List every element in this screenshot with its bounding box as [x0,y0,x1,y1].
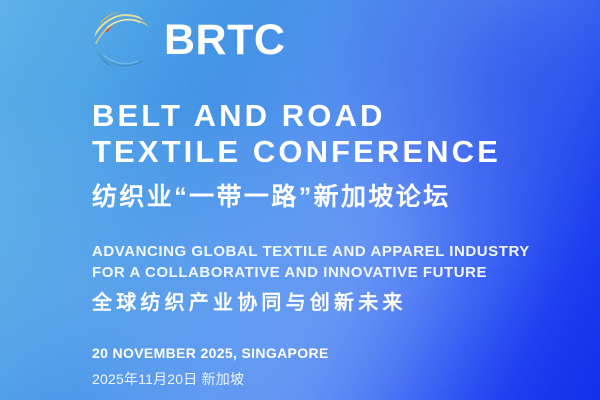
title-line-2: TEXTILE CONFERENCE [92,134,600,170]
event-date-english: 20 NOVEMBER 2025, SINGAPORE [92,343,600,363]
conference-poster: BRTC BELT AND ROAD TEXTILE CONFERENCE 纺织… [0,0,600,400]
tagline: ADVANCING GLOBAL TEXTILE AND APPAREL IND… [92,241,600,316]
poster-content: BRTC BELT AND ROAD TEXTILE CONFERENCE 纺织… [0,0,600,389]
logo-accent-red [106,24,122,33]
brand-name: BRTC [164,19,285,62]
brtc-circular-wave-logo-icon [92,9,154,71]
event-date-venue: 20 NOVEMBER 2025, SINGAPORE 2025年11月20日 … [92,343,600,389]
event-date-chinese: 2025年11月20日 新加坡 [92,369,600,389]
tagline-line-2: FOR A COLLABORATIVE AND INNOVATIVE FUTUR… [92,262,600,283]
page-title: BELT AND ROAD TEXTILE CONFERENCE [92,98,600,170]
title-line-1: BELT AND ROAD [92,98,600,134]
brand-lockup: BRTC [92,0,600,72]
tagline-chinese: 全球纺织产业协同与创新未来 [92,290,600,316]
tagline-line-1: ADVANCING GLOBAL TEXTILE AND APPAREL IND… [92,241,600,262]
subtitle-chinese: 纺织业“一带一路”新加坡论坛 [92,182,600,212]
